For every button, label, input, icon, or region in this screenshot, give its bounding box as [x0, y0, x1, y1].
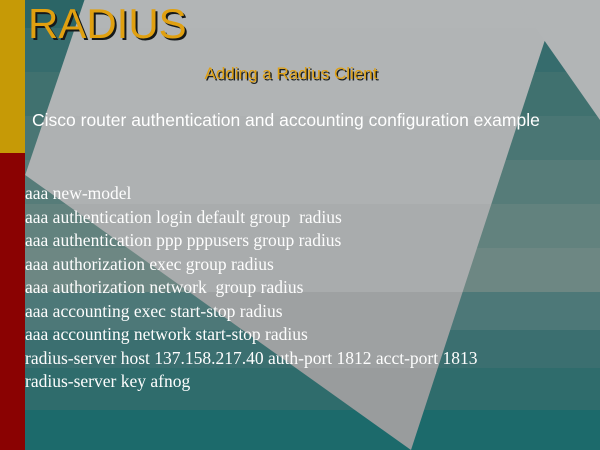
slide-lead-paragraph: Cisco router authentication and accounti…: [32, 110, 547, 132]
configuration-code-block: aaa new-modelaaa authentication login de…: [25, 182, 585, 394]
config-line: aaa authorization network group radius: [25, 276, 585, 300]
config-line: aaa new-model: [25, 182, 585, 206]
presentation-slide: RADIUS Adding a Radius Client Cisco rout…: [0, 0, 600, 450]
config-line: aaa authentication login default group r…: [25, 206, 585, 230]
config-line: radius-server key afnog: [25, 370, 585, 394]
config-line: aaa authorization exec group radius: [25, 253, 585, 277]
config-line: radius-server host 137.158.217.40 auth-p…: [25, 347, 585, 371]
config-line: aaa accounting network start-stop radius: [25, 323, 585, 347]
config-line: aaa accounting exec start-stop radius: [25, 300, 585, 324]
slide-subtitle: Adding a Radius Client: [0, 64, 582, 84]
left-accent-bar-red: [0, 153, 25, 450]
slide-title: RADIUS: [28, 2, 187, 46]
config-line: aaa authentication ppp pppusers group ra…: [25, 229, 585, 253]
